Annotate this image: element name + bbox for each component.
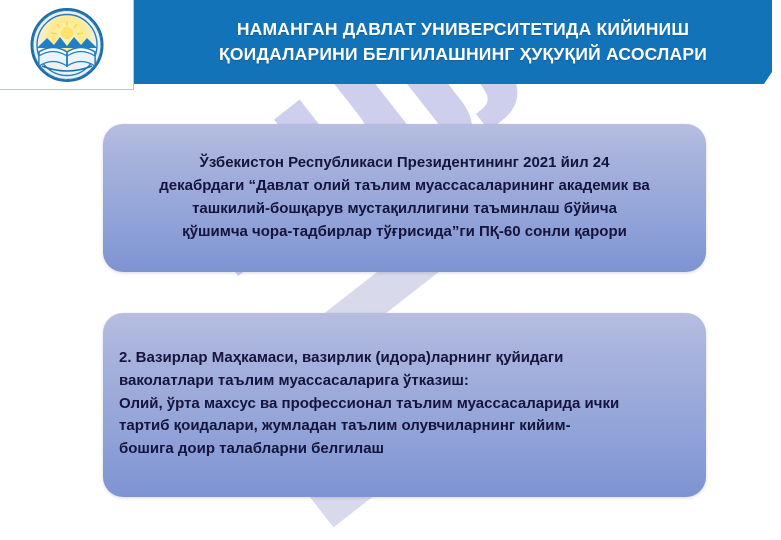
page-title: НАМАНГАН ДАВЛАТ УНИВЕРСИТЕТИДА КИЙИНИШ Қ… [159,17,725,68]
decree-line-1: Ўзбекистон Республикаси Президентининг 2… [129,152,680,175]
decree-box: Ўзбекистон Республикаси Президентининг 2… [103,124,706,272]
slide-header-bar: НАМАНГАН ДАВЛАТ УНИВЕРСИТЕТИДА КИЙИНИШ Қ… [112,0,772,84]
provision-box-text: 2. Вазирлар Маҳкамаси, вазирлик (идора)л… [103,313,706,461]
page-title-line-2: ҚОИДАЛАРИНИ БЕЛГИЛАШНИНГ ҲУҚУҚИЙ АСОСЛАР… [219,44,707,64]
provision-line-2: ваколатлари таълим муассасаларига ўткази… [119,370,682,393]
provision-line-5: бошига доир талабларни белгилаш [119,438,682,461]
decree-box-text: Ўзбекистон Республикаси Президентининг 2… [103,152,706,243]
provision-box: 2. Вазирлар Маҳкамаси, вазирлик (идора)л… [103,313,706,497]
slide-canvas: hujjat24 НАМАНГАН ДАВЛАТ УНИВЕРСИТЕТИДА … [0,0,781,540]
provision-line-1: 2. Вазирлар Маҳкамаси, вазирлик (идора)л… [119,347,682,370]
university-logo-card [0,0,134,90]
provision-line-4: тартиб қоидалари, жумладан таълим олувчи… [119,415,682,438]
page-title-line-1: НАМАНГАН ДАВЛАТ УНИВЕРСИТЕТИДА КИЙИНИШ [237,19,689,39]
university-emblem-icon [29,8,105,82]
decree-line-3: ташкилий-бошқарув мустақиллигини таъминл… [129,198,680,221]
decree-line-4: қўшимча чора-тадбирлар тўғрисида”ги ПҚ-6… [129,221,680,244]
decree-line-2: декабрдаги “Давлат олий таълим муассасал… [129,175,680,198]
provision-line-3: Олий, ўрта махсус ва профессионал таълим… [119,393,682,416]
